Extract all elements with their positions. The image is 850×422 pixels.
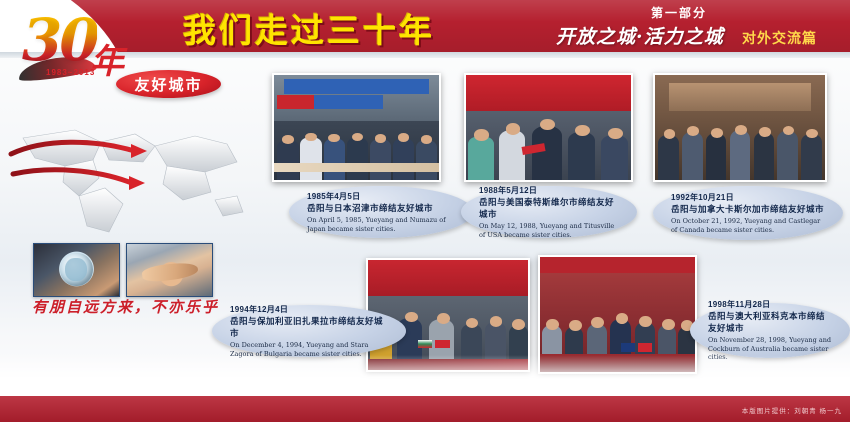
caption-bubble-2: 1988年5月12日 岳阳与美国泰特斯维尔市缔结友好城市 On May 12, … [461, 186, 637, 238]
world-map-graphic [5, 108, 255, 243]
bottom-wave-decoration [0, 355, 850, 400]
caption-bubble-1: 1985年4月5日 岳阳与日本沼津市缔结友好城市 On April 5, 198… [289, 186, 473, 238]
confucius-quote: 有朋自远方来，不亦乐乎 [32, 296, 212, 317]
caption-chinese: 岳阳与加拿大卡斯尔加市缔结友好城市 [671, 203, 825, 215]
caption-date: 1985年4月5日 [307, 191, 455, 202]
caption-english: On May 12, 1988, Yueyang and Titusville … [479, 222, 619, 239]
friendship-city-badge: 友好城市 [116, 70, 221, 98]
slogan-subtitle: 对外交流篇 [742, 28, 817, 48]
caption-bubble-5: 1998年11月28日 岳阳与澳大利亚科克本市缔结友好城市 On Novembe… [690, 303, 850, 358]
handshake-photo [126, 243, 213, 297]
caption-chinese: 岳阳与澳大利亚科克本市缔结友好城市 [708, 310, 832, 334]
photo-titusville-signing [464, 73, 633, 182]
caption-english: On April 5, 1985, Yueyang and Numazu of … [307, 216, 455, 233]
part-label: 第一部分 [651, 4, 707, 21]
photo-numazu-delegation [272, 73, 441, 182]
logo-year-range: 1983~2013 [46, 68, 95, 77]
caption-english: On October 21, 1992, Yueyang and Castleg… [671, 217, 825, 234]
caption-bubble-3: 1992年10月21日 岳阳与加拿大卡斯尔加市缔结友好城市 On October… [653, 186, 843, 240]
crowd-figures [655, 104, 825, 180]
globe-in-hands-photo [33, 243, 120, 297]
handshake-image [127, 244, 212, 296]
caption-date: 1988年5月12日 [479, 185, 619, 196]
footer-sheen [0, 396, 850, 422]
globe-image [34, 244, 119, 296]
footer-band [0, 396, 850, 422]
caption-chinese: 岳阳与保加利亚旧扎果拉市缔结友好城市 [230, 315, 388, 339]
crowd-figures [466, 104, 631, 180]
poster-canvas: 我们走过三十年 第一部分 开放之城·活力之城 对外交流篇 30 年 1983~2… [0, 0, 850, 422]
caption-chinese: 岳阳与美国泰特斯维尔市缔结友好城市 [479, 196, 619, 220]
caption-bubble-4: 1994年12月4日 岳阳与保加利亚旧扎果拉市缔结友好城市 On Decembe… [212, 305, 406, 357]
caption-date: 1994年12月4日 [230, 304, 388, 315]
slogan-text: 开放之城·活力之城 [556, 22, 724, 49]
photo-castlegar-ceremony [653, 73, 827, 182]
page-title: 我们走过三十年 [183, 4, 435, 52]
logo-number: 30 [22, 6, 97, 74]
caption-date: 1992年10月21日 [671, 192, 825, 203]
photo-credit: 本版图片提供：刘朝青 杨一九 [742, 405, 842, 415]
world-map-svg [5, 108, 255, 243]
caption-chinese: 岳阳与日本沼津市缔结友好城市 [307, 202, 455, 214]
caption-date: 1998年11月28日 [708, 299, 832, 310]
